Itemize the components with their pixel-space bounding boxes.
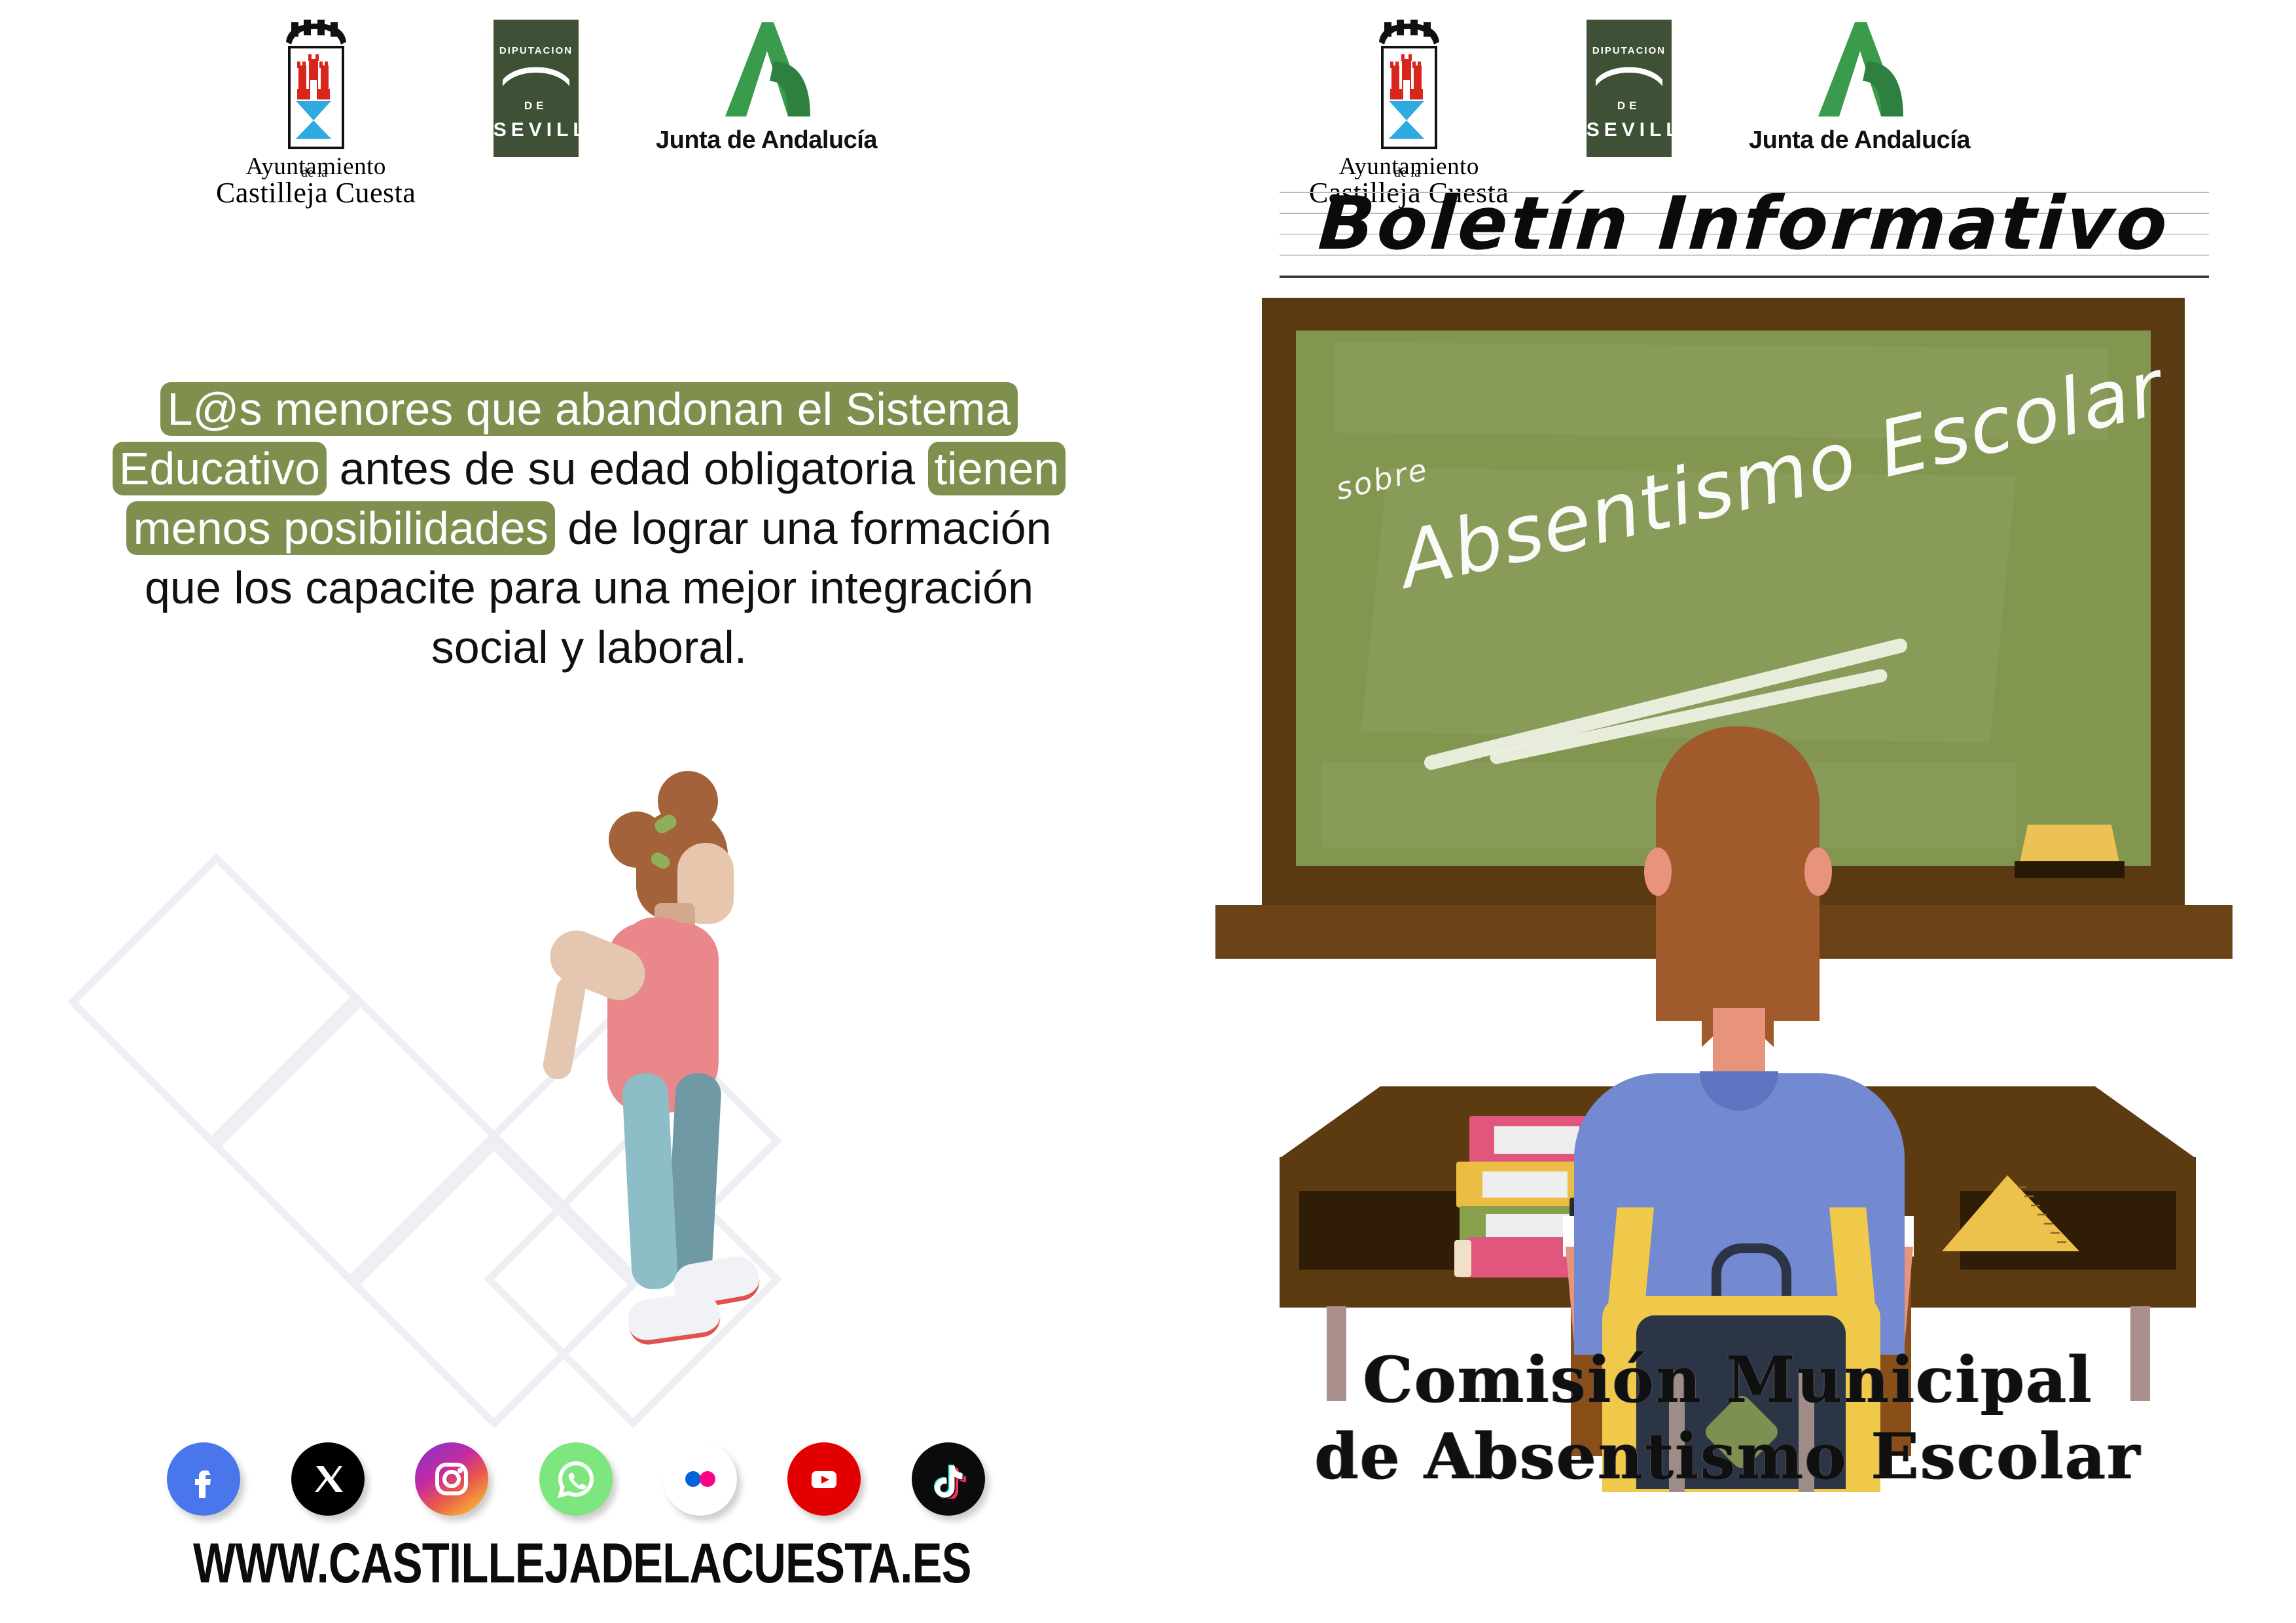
website-url[interactable]: WWW.CASTILLEJADELACUESTA.ES xyxy=(193,1531,952,1596)
diputacion-sevilla: SEVILLA xyxy=(493,119,579,141)
set-square-ruler xyxy=(1934,1171,2085,1257)
book-label xyxy=(1486,1214,1571,1239)
diputacion-de: DE xyxy=(493,99,579,113)
diputacion-arc-icon-2: DIPUTACION xyxy=(1587,39,1672,98)
diputacion-sevilla-logo: DIPUTACION DE SEVILLA xyxy=(493,20,579,157)
junta-label-2: Junta de Andalucía xyxy=(1749,126,1970,154)
svg-text:DIPUTACION: DIPUTACION xyxy=(499,45,573,56)
book-spine-cream xyxy=(1454,1240,1471,1277)
crown-icon-2 xyxy=(1376,20,1442,47)
hopscotch-illustration xyxy=(98,831,1028,1420)
eraser-top xyxy=(2020,825,2119,863)
eraser-base xyxy=(2015,861,2125,878)
bulletin-title-block: Boletín Informativo xyxy=(1280,187,2209,291)
svg-text:DIPUTACION: DIPUTACION xyxy=(1592,45,1666,56)
ayuntamiento-label: Ayuntamiento de la Castilleja Cuesta xyxy=(216,154,416,207)
instagram-icon[interactable] xyxy=(415,1442,488,1516)
ayuntamiento-castilleja-cuesta-logo-2: Ayuntamiento de la Castilleja Cuesta xyxy=(1309,20,1509,207)
junta-de-andalucia-logo: Junta de Andalucía xyxy=(656,20,877,154)
ayuntamiento-castilleja-cuesta-logo: Ayuntamiento de la Castilleja Cuesta xyxy=(216,20,416,207)
bulletin-title: Boletín Informativo xyxy=(1276,181,2212,266)
logo-bar-left: Ayuntamiento de la Castilleja Cuesta DIP… xyxy=(216,20,877,177)
commission-title: Comisión Municipal de Absentismo Escolar xyxy=(1204,1342,2251,1495)
andalucia-a-icon-2 xyxy=(1804,20,1915,122)
social-media-row xyxy=(167,1436,985,1522)
flickr-icon[interactable] xyxy=(664,1442,737,1516)
tiktok-icon[interactable] xyxy=(912,1442,985,1516)
junta-label: Junta de Andalucía xyxy=(656,126,877,154)
andalucia-a-icon xyxy=(711,20,822,122)
youtube-icon[interactable] xyxy=(787,1442,861,1516)
coat-of-arms-shield-2 xyxy=(1381,46,1437,149)
logo-bar-right: Ayuntamiento de la Castilleja Cuesta DIP… xyxy=(1309,20,1970,177)
boy-ear-left xyxy=(1644,847,1672,896)
book-label xyxy=(1494,1126,1579,1154)
absenteeism-statement: L@s menores que abandonan el Sistema Edu… xyxy=(108,380,1070,677)
ayuntamiento-dela: de la xyxy=(301,166,328,179)
ayuntamiento-line2: de la Castilleja Cuesta xyxy=(216,179,416,207)
diputacion-sevilla-2: SEVILLA xyxy=(1587,119,1672,141)
statement-segment-3: antes de su edad obligatoria xyxy=(340,443,928,494)
ayuntamiento-town: Castilleja Cuesta xyxy=(216,177,416,209)
chalkboard-eraser xyxy=(2015,825,2125,878)
statement-segment-1: L@s menores que abandonan el Sistema xyxy=(160,382,1017,436)
rule-line-baseline xyxy=(1280,276,2209,278)
boy-ear-right xyxy=(1804,847,1832,896)
commission-title-line2: de Absentismo Escolar xyxy=(1204,1418,2251,1495)
statement-segment-2: Educativo xyxy=(113,442,327,495)
coat-of-arms-shield xyxy=(288,46,344,149)
diputacion-arc-icon: DIPUTACION xyxy=(493,39,579,98)
whatsapp-icon[interactable] xyxy=(539,1442,613,1516)
x-twitter-icon[interactable] xyxy=(291,1442,365,1516)
diputacion-de-2: DE xyxy=(1587,99,1672,113)
ayuntamiento-dela-2: de la xyxy=(1394,166,1421,179)
commission-title-line1: Comisión Municipal xyxy=(1204,1342,2251,1418)
crown-icon xyxy=(283,20,349,47)
junta-de-andalucia-logo-2: Junta de Andalucía xyxy=(1749,20,1970,154)
diputacion-sevilla-logo-2: DIPUTACION DE SEVILLA xyxy=(1587,20,1672,157)
book-label xyxy=(1482,1171,1568,1198)
facebook-icon[interactable] xyxy=(167,1442,240,1516)
